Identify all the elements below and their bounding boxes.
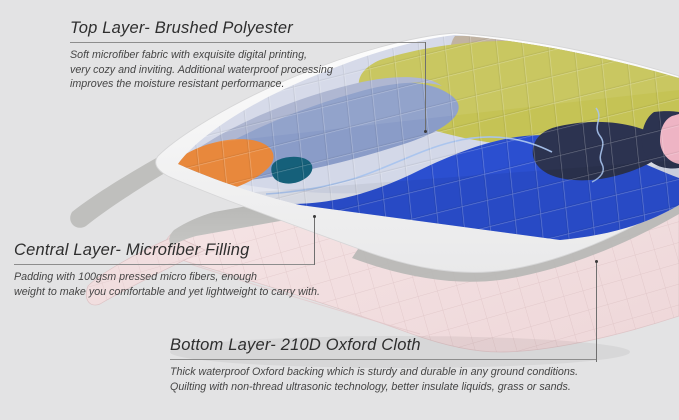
callout-top-layer-title: Top Layer- Brushed Polyester [70,18,425,38]
leader-dot-top-layer [424,130,427,133]
callout-bottom-layer: Bottom Layer- 210D Oxford Cloth Thick wa… [170,335,596,394]
leader-dot-bottom-layer [595,260,598,263]
callout-central-layer: Central Layer- Microfiber Filling Paddin… [14,240,320,299]
callout-central-layer-body: Padding with 100gsm pressed micro fibers… [14,270,320,299]
callout-top-layer: Top Layer- Brushed Polyester Soft microf… [70,18,425,92]
callout-bottom-layer-title: Bottom Layer- 210D Oxford Cloth [170,335,596,355]
callout-bottom-layer-rule [170,359,596,360]
callout-central-layer-rule [14,264,314,265]
leader-line-bottom-layer [596,262,597,362]
callout-top-layer-body: Soft microfiber fabric with exquisite di… [70,48,425,92]
leader-dot-central-layer [313,215,316,218]
leader-line-top-layer [425,42,426,132]
callout-top-layer-rule [70,42,425,43]
callout-central-layer-title: Central Layer- Microfiber Filling [14,240,320,260]
infographic-canvas: Top Layer- Brushed Polyester Soft microf… [0,0,679,420]
callout-bottom-layer-body: Thick waterproof Oxford backing which is… [170,365,596,394]
